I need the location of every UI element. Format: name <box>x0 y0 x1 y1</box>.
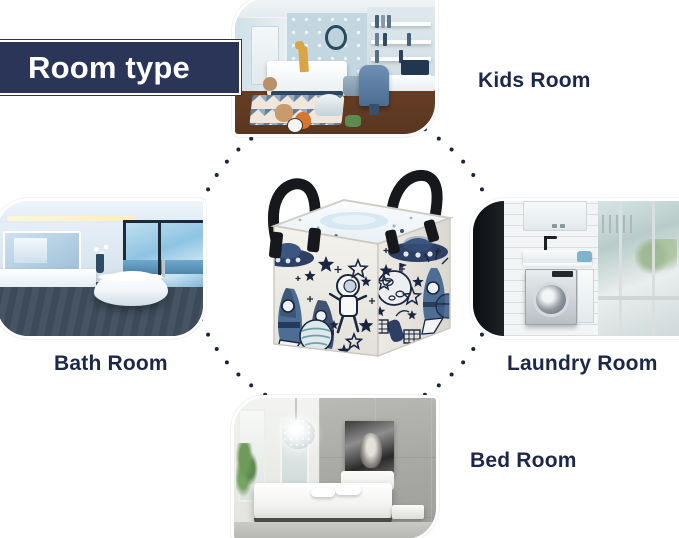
bath-room-image <box>0 201 203 336</box>
page-title-banner: Room type <box>0 40 241 95</box>
connector-dot <box>215 173 219 177</box>
page-title: Room type <box>28 52 190 83</box>
room-label-laundry: Laundry Room <box>507 352 658 376</box>
room-photo-bed[interactable] <box>231 395 439 538</box>
connector-dot <box>249 137 253 141</box>
product-storage-basket[interactable] <box>226 148 466 380</box>
connector-dot <box>471 347 475 351</box>
connector-dot <box>471 173 475 177</box>
room-photo-laundry[interactable] <box>470 198 679 339</box>
connector-dot <box>249 383 253 387</box>
connector-dot <box>437 137 441 141</box>
room-label-bed: Bed Room <box>470 449 577 473</box>
room-label-bath: Bath Room <box>54 352 168 376</box>
room-photo-bath[interactable] <box>0 198 206 339</box>
connector-dot <box>206 333 210 337</box>
connector-dot <box>480 187 484 191</box>
bed-room-image <box>234 398 436 538</box>
kids-room-image <box>235 0 435 134</box>
room-photo-kids[interactable] <box>232 0 438 137</box>
infographic-root: Room type <box>0 0 679 538</box>
connector-dot <box>437 383 441 387</box>
connector-dot <box>215 347 219 351</box>
connector-dot <box>206 187 210 191</box>
room-label-kids: Kids Room <box>478 69 591 93</box>
laundry-room-image <box>473 201 679 336</box>
motif-planet-side <box>436 294 460 318</box>
